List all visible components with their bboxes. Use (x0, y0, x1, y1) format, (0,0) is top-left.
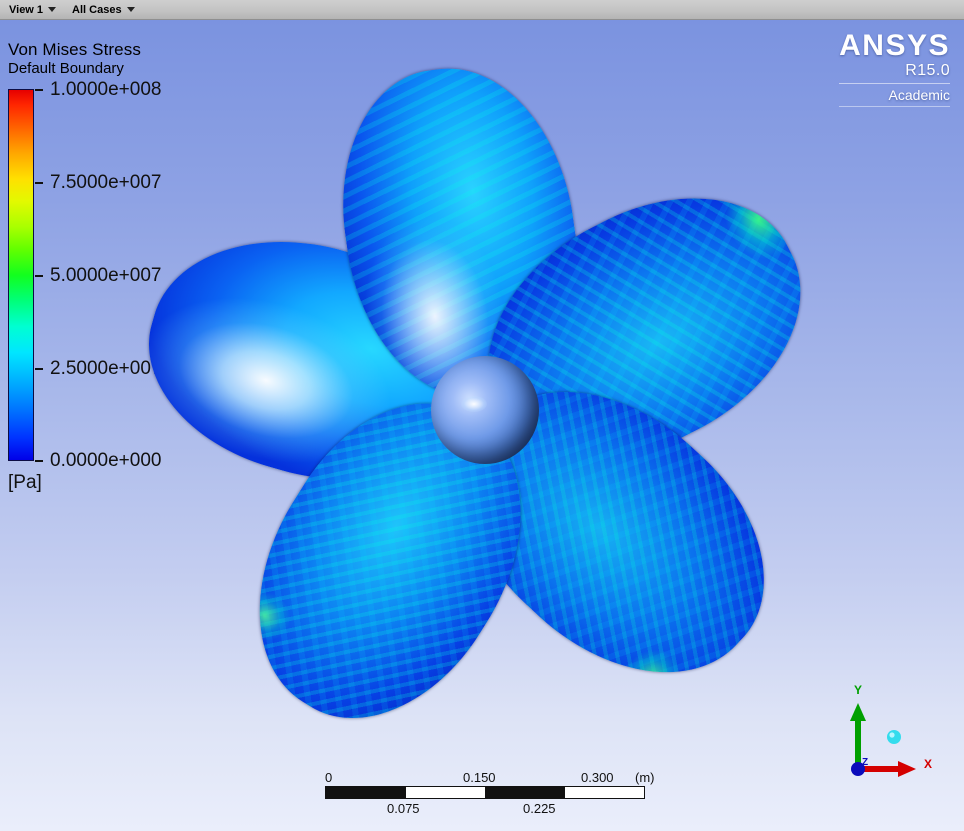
hub-specular-highlight (461, 396, 487, 412)
axis-triad[interactable]: Y X Z (836, 681, 944, 781)
scale-label-150: 0.150 (463, 770, 496, 785)
scale-label-075: 0.075 (387, 801, 420, 816)
color-scale-bar[interactable] (8, 89, 34, 461)
scale-segment (326, 787, 406, 798)
view-selector-label: View 1 (9, 4, 43, 16)
axis-label-x: X (924, 757, 932, 771)
legend-units: [Pa] (8, 472, 42, 494)
scale-unit-label: (m) (635, 770, 655, 785)
scale-label-0: 0 (325, 770, 332, 785)
case-selector-label: All Cases (72, 4, 122, 16)
chevron-down-icon[interactable] (127, 7, 135, 12)
scale-bar: 0 0.150 0.300 (m) 0.075 0.225 (325, 770, 645, 819)
chevron-down-icon[interactable] (48, 7, 56, 12)
scale-label-300: 0.300 (581, 770, 614, 785)
scale-bar-top-labels: 0 0.150 0.300 (m) (325, 770, 645, 786)
scale-segment (565, 787, 645, 798)
locator-sphere-highlight (889, 732, 894, 737)
colorbar-tick (35, 368, 43, 370)
colorbar-tick (35, 275, 43, 277)
graphics-viewport[interactable]: Von Mises Stress Default Boundary 1.0000… (0, 20, 964, 831)
axis-label-z: Z (862, 757, 868, 768)
scale-bar-bottom-labels: 0.075 0.225 (325, 801, 645, 819)
colorbar-container[interactable]: 1.0000e+008 7.5000e+007 5.0000e+007 2.50… (8, 89, 34, 461)
ansys-name: ANSYS (839, 30, 950, 61)
colorbar-tick (35, 182, 43, 184)
colorbar-tick (35, 89, 43, 91)
propeller-model[interactable] (90, 60, 880, 760)
locator-sphere (887, 730, 901, 744)
view-selector[interactable]: View 1 (6, 3, 59, 17)
scale-label-225: 0.225 (523, 801, 556, 816)
scale-segment (485, 787, 565, 798)
propeller-hub[interactable] (431, 356, 539, 464)
scale-bar-segments (325, 786, 645, 799)
colorbar-tick (35, 460, 43, 462)
scale-segment (406, 787, 486, 798)
legend-title: Von Mises Stress (8, 40, 208, 60)
axis-label-y: Y (854, 683, 862, 697)
case-selector[interactable]: All Cases (69, 3, 138, 17)
top-toolbar: View 1 All Cases (0, 0, 964, 20)
